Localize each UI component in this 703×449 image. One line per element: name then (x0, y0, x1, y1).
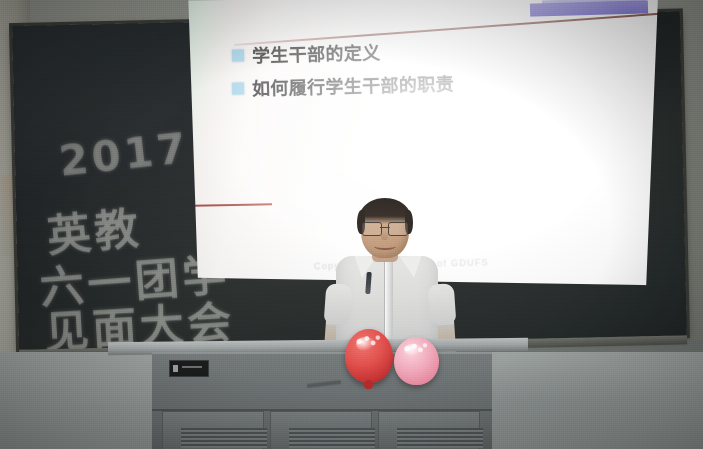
cabinet-vent-icon (439, 428, 483, 448)
eyeglass-lens-right (388, 222, 408, 236)
cabinet-door (378, 411, 480, 449)
balloon-specular-highlight (356, 337, 375, 351)
speaker-sleeve-left (324, 283, 353, 325)
balloon-knot (364, 380, 373, 389)
speaker-nose (381, 231, 388, 240)
plaque-marker (173, 365, 178, 372)
speaker-sleeve-right (428, 283, 457, 325)
cabinet-door (270, 411, 372, 449)
eyeglass-lens-left (362, 222, 382, 236)
red-balloon (345, 329, 393, 383)
speaker-figure (318, 196, 458, 356)
plaque-text-line (182, 366, 202, 368)
cabinet-vent-icon (331, 428, 375, 448)
cabinet-vent-icon (223, 428, 267, 448)
podium-cabinet (152, 352, 492, 449)
equipment-label-plaque (169, 360, 209, 377)
podium-scuff-mark (307, 380, 341, 388)
balloon-specular-highlight (404, 344, 422, 356)
wall-stain (2, 176, 14, 256)
speaker-mouth (374, 242, 396, 250)
speaker-hair (359, 198, 411, 224)
cabinet-door (162, 411, 264, 449)
classroom-photo-scene: 2017 英教 六一团学 见面大会 学生干部的定义 如何履行学生干部的职责 C (0, 0, 703, 449)
pink-balloon (394, 337, 439, 385)
